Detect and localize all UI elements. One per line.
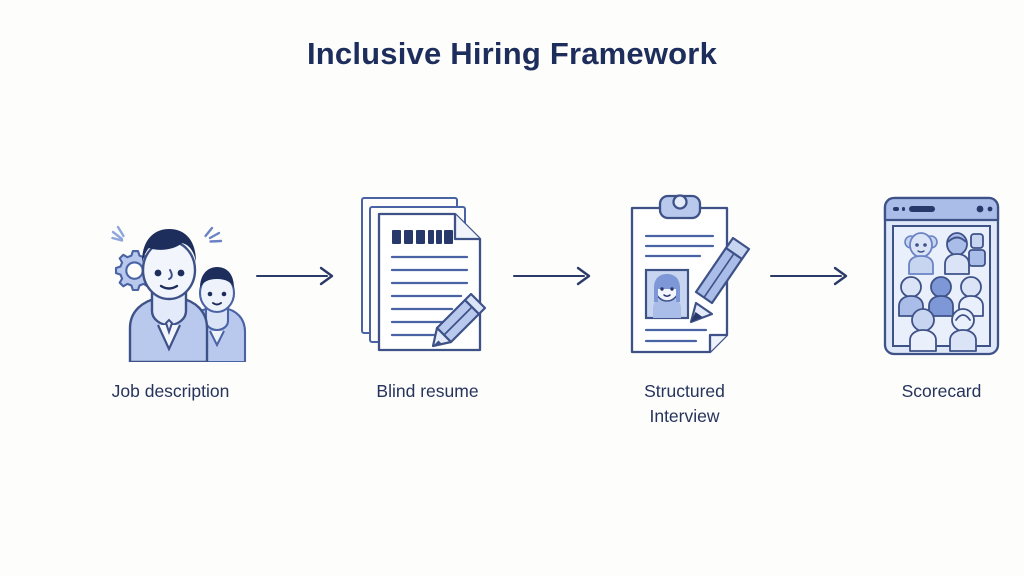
flow-step-blind-resume[interactable]: Blind resume [345,190,510,404]
tablet-people-grid-icon [859,190,1024,362]
slide-canvas: Inclusive Hiring Framework [0,0,1024,576]
flow-arrow-1 [253,190,345,362]
process-flow: Job description [88,190,948,440]
flow-arrow-3 [767,190,859,362]
page-title: Inclusive Hiring Framework [0,36,1024,72]
flow-step-scorecard[interactable]: Scorecard [859,190,1024,404]
flow-step-label: Blind resume [376,379,478,404]
flow-step-label: Structured Interview [644,379,725,430]
flow-step-structured-interview[interactable]: Structured Interview [602,190,767,430]
clipboard-portrait-pen-icon [602,190,767,362]
flow-arrow-2 [510,190,602,362]
flow-step-job-description[interactable]: Job description [88,190,253,404]
flow-step-label: Job description [112,379,230,404]
flow-step-label: Scorecard [902,379,982,404]
two-people-gear-icon [88,190,253,362]
redacted-documents-pencil-icon [345,190,510,362]
